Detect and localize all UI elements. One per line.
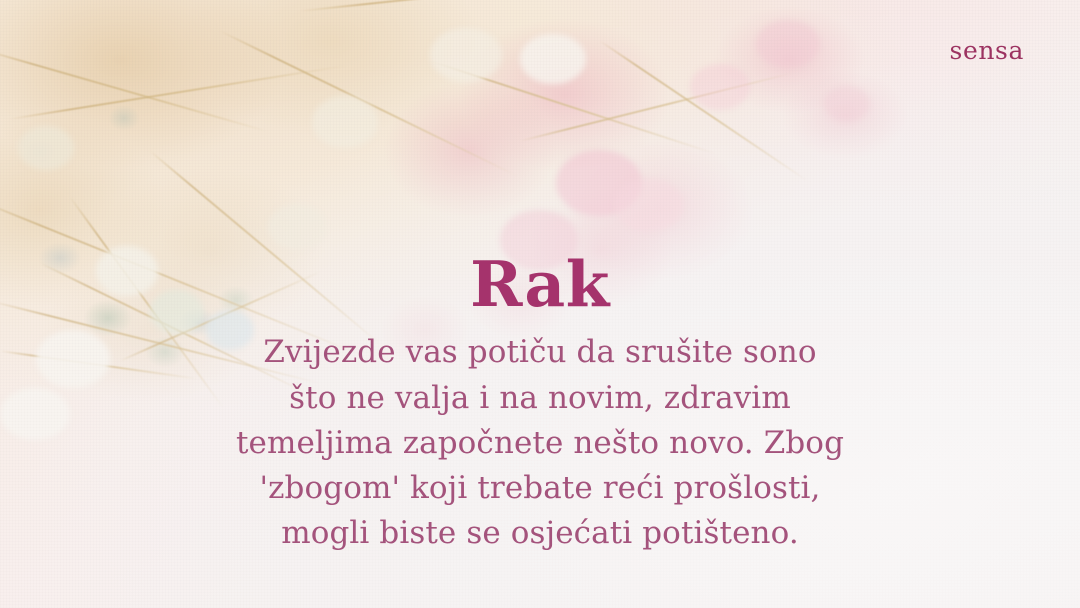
- horoscope-line: temeljima započnete nešto novo. Zbog: [0, 421, 1080, 466]
- horoscope-line: Zvijezde vas potiču da srušite sono: [0, 330, 1080, 375]
- horoscope-card: sensa Rak Zvijezde vas potiču da srušite…: [0, 0, 1080, 608]
- horoscope-text: Zvijezde vas potiču da srušite sono što …: [0, 330, 1080, 556]
- zodiac-sign-title: Rak: [0, 252, 1080, 316]
- card-content: Rak Zvijezde vas potiču da srušite sono …: [0, 252, 1080, 557]
- horoscope-line: što ne valja i na novim, zdravim: [0, 376, 1080, 421]
- horoscope-line: mogli biste se osjećati potišteno.: [0, 511, 1080, 556]
- sensa-logo[interactable]: sensa: [950, 38, 1024, 63]
- horoscope-line: 'zbogom' koji trebate reći prošlosti,: [0, 466, 1080, 511]
